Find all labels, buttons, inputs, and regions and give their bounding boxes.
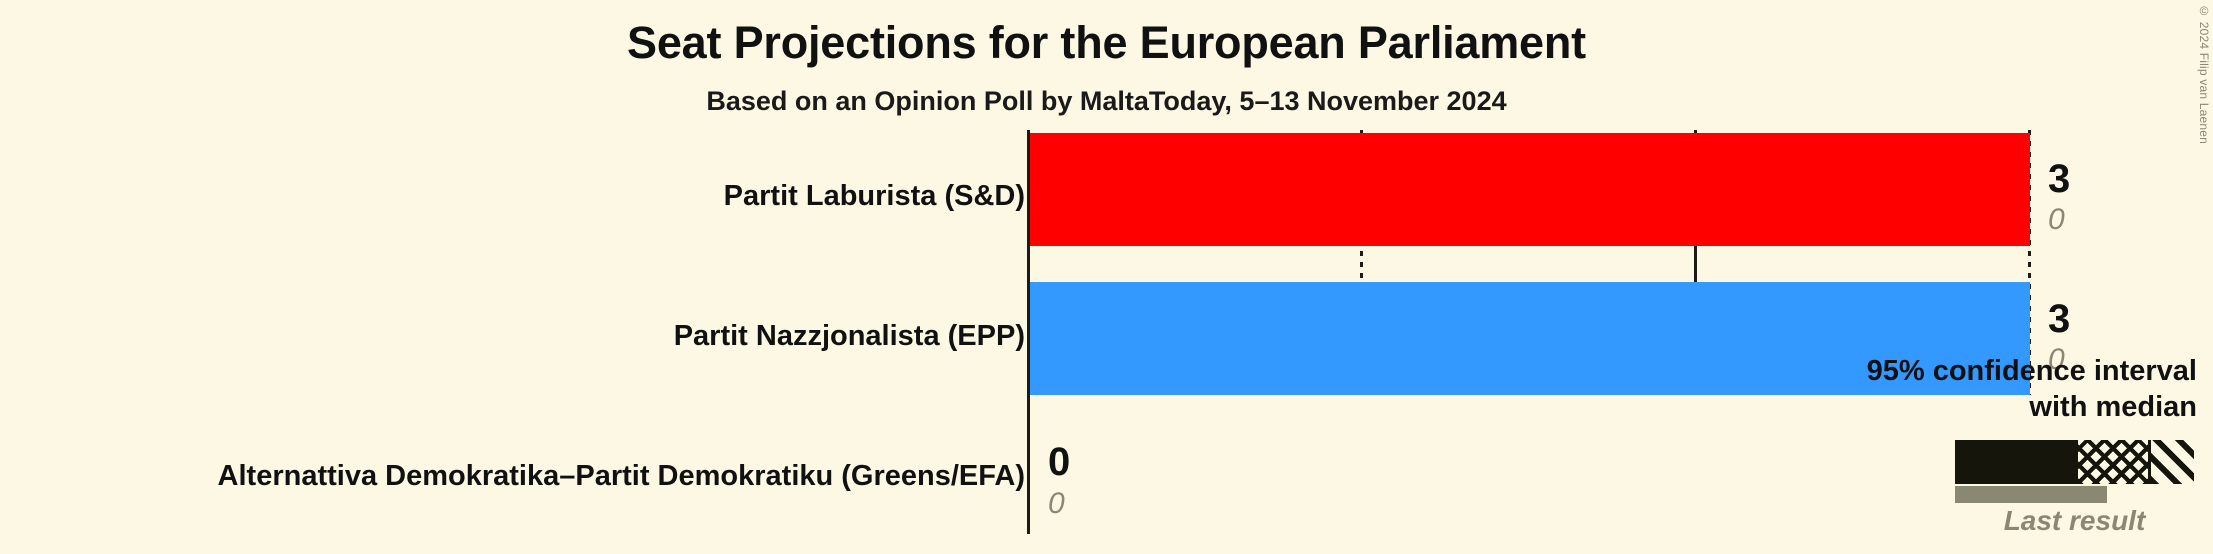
legend-ci-diagonal-segment <box>2151 440 2194 484</box>
bar-laburista[interactable] <box>1030 133 2030 246</box>
bar-label-alternattiva: Alternattiva Demokratika–Partit Demokrat… <box>218 460 1025 493</box>
bar-label-nazzjonalista: Partit Nazzjonalista (EPP) <box>674 320 1025 353</box>
chart-canvas: Seat Projections for the European Parlia… <box>0 0 2213 554</box>
bar-value-alternattiva: 0 <box>1048 440 1070 485</box>
bar-label-laburista: Partit Laburista (S&D) <box>724 180 1025 213</box>
legend-last-result-swatch <box>1955 486 2107 503</box>
legend-ci-line2: with median <box>2029 391 2197 424</box>
plot-area: Partit Laburista (S&D) 3 0 Partit Nazzjo… <box>0 0 2213 554</box>
legend-ci-swatch <box>1955 440 2194 484</box>
bar-last-result-laburista: 0 <box>2048 203 2065 237</box>
legend-ci-crosshatch-segment <box>2075 440 2151 484</box>
legend-ci-solid-segment <box>1955 440 2075 484</box>
bar-value-nazzjonalista: 3 <box>2048 297 2070 342</box>
bar-value-laburista: 3 <box>2048 157 2070 202</box>
legend-last-result-label: Last result <box>1955 505 2194 537</box>
legend-ci-line1: 95% confidence interval <box>1867 355 2197 388</box>
bar-last-result-alternattiva: 0 <box>1048 487 1065 521</box>
